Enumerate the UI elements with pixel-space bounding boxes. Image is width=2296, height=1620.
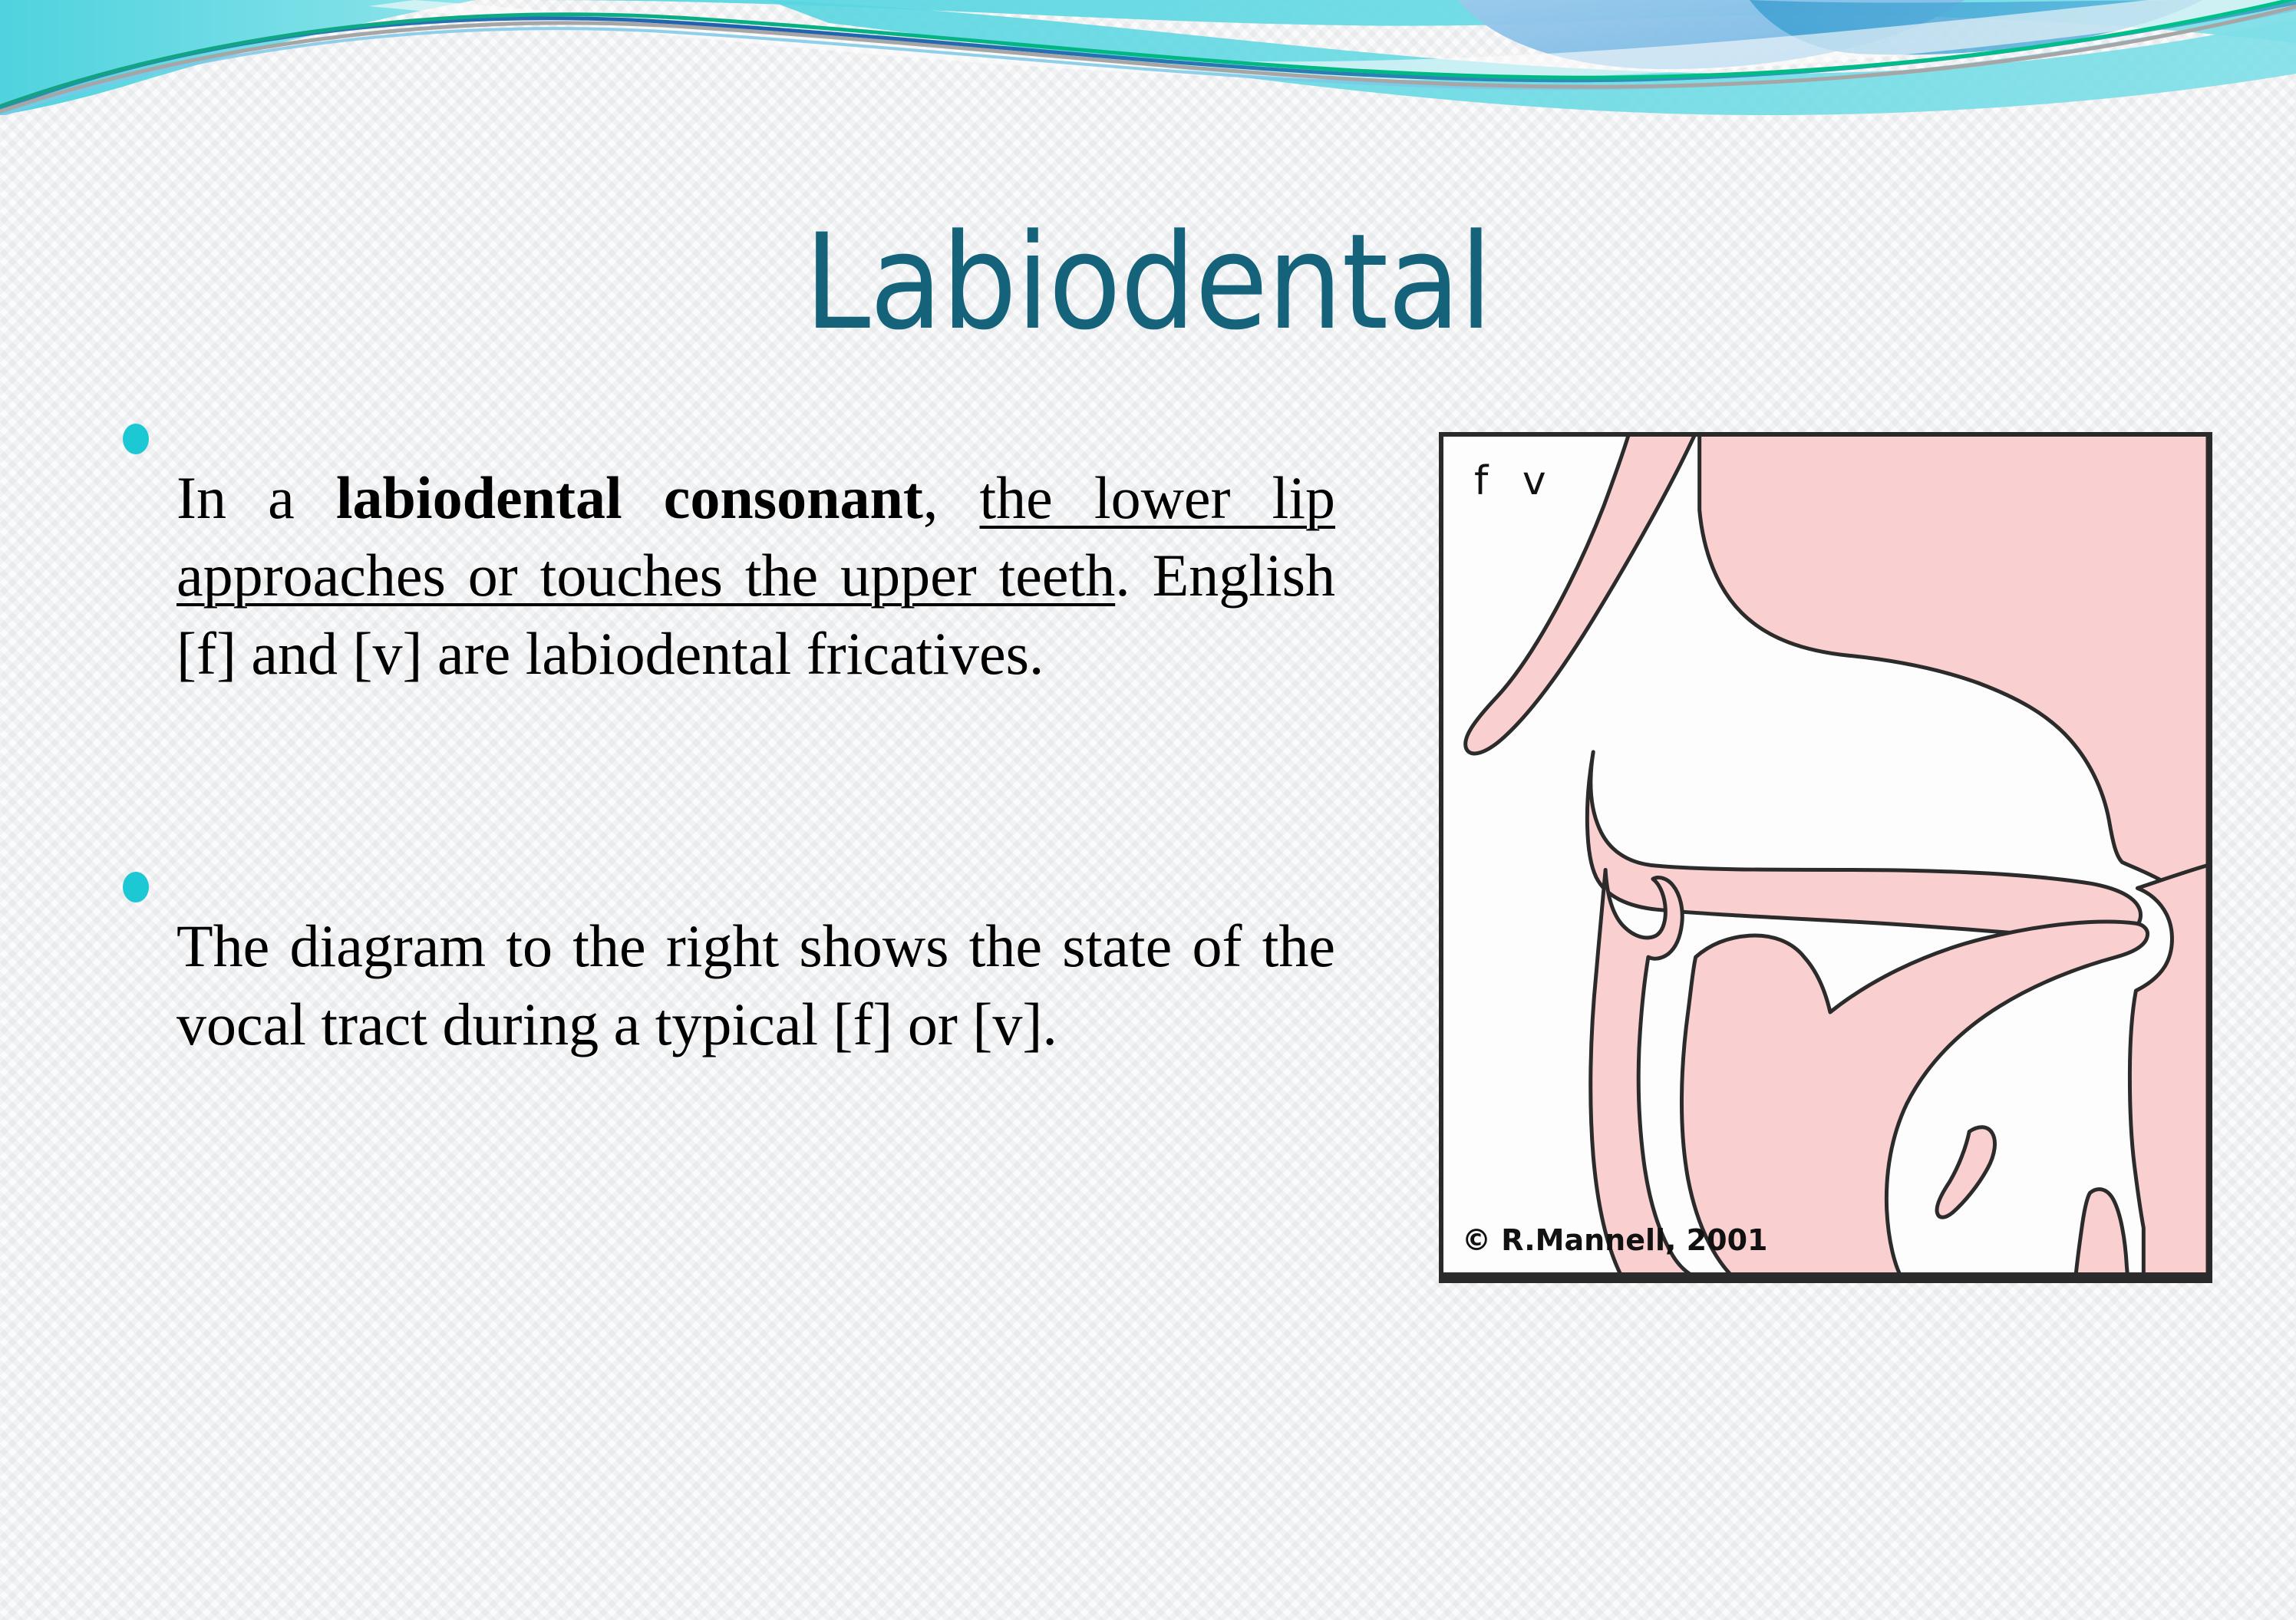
vocal-tract-diagram: f v © R.Mannell, 2001 xyxy=(1439,432,2212,1283)
bullet-1-text: In a labiodental consonant, the lower li… xyxy=(176,459,1335,692)
figure-copyright-label: © R.Mannell, 2001 xyxy=(1462,1223,1767,1257)
bullet-1-seg-1-bold: labiodental consonant xyxy=(336,464,923,531)
slide-canvas: Labiodental In a labiodental consonant, … xyxy=(0,0,2296,1620)
header-swoosh-decoration xyxy=(0,0,2296,115)
phoneme-label-fv: f v xyxy=(1474,458,1557,504)
bullet-marker-icon xyxy=(123,424,149,454)
slide-title: Labiodental xyxy=(0,213,2296,352)
body-content-column: In a labiodental consonant, the lower li… xyxy=(123,399,1335,1123)
list-item: In a labiodental consonant, the lower li… xyxy=(123,399,1335,752)
bullet-2-text: The diagram to the right shows the state… xyxy=(176,907,1335,1063)
bullet-1-seg-2: , xyxy=(923,464,980,531)
list-item: The diagram to the right shows the state… xyxy=(123,847,1335,1123)
bullet-1-seg-0: In a xyxy=(176,464,336,531)
bullet-2-seg-0: The diagram to the right shows the state… xyxy=(176,912,1335,1057)
bullet-marker-icon xyxy=(123,872,149,902)
